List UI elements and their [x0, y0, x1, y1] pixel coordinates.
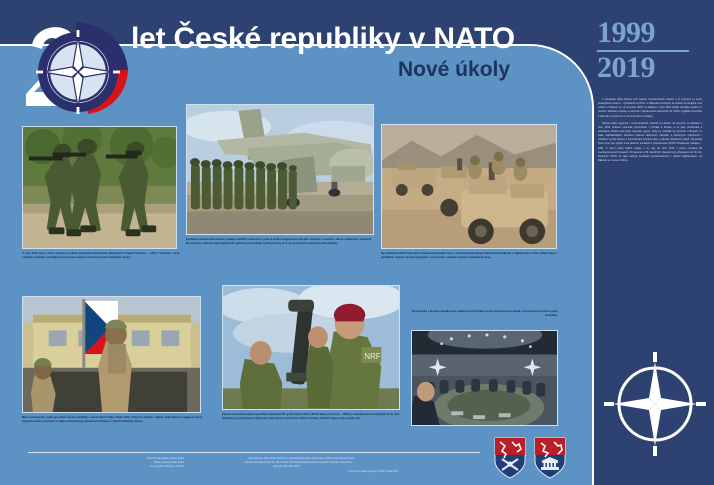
photo-transport-aircraft: [186, 104, 374, 235]
footer-divider: [28, 452, 480, 453]
crest-military-history-institute: [494, 437, 526, 479]
photo-soldiers-training: [22, 126, 177, 249]
page-title: let České republiky v NATO: [131, 22, 515, 56]
caption-nato-council: Na summitu v Bruselu zasedla jsme zaměře…: [411, 310, 558, 318]
nato-20-anniversary-logo: [18, 16, 138, 118]
footer-crests: [494, 437, 566, 479]
photo-mortar-crew: NRF: [222, 285, 400, 410]
anniversary-years: 1999 2019: [597, 18, 697, 84]
photo-desert-convoy: [381, 124, 557, 249]
year-from: 1999: [597, 18, 697, 49]
right-text-column: V současné době Aliance čelí zvýšení mez…: [598, 98, 702, 166]
caption-mortar-crew: Úkolem mechanizovaných speciálních jedno…: [222, 413, 400, 421]
footer-line: Výtvarná autorů a fotoarchiv Vojenský Ús…: [300, 461, 420, 465]
right-text-paragraph-1: V současné době Aliance čelí zvýšení mez…: [598, 98, 702, 119]
caption-desert-convoy: Na summitech NATO byla také schválena po…: [381, 252, 557, 260]
footer-copyright: © 20 výročí České republiky v NATO Praha…: [348, 470, 488, 474]
caption-soldier-czech-flag: Mimo mezinárodní vojáci při cvičení Česk…: [22, 416, 202, 424]
footer-column-4: © 20 výročí České republiky v NATO Praha…: [348, 470, 488, 474]
right-text-paragraph-2: Šéfové států reagovali v mezinárodních v…: [598, 122, 702, 163]
footer-line: Vojenský Ústav 160 NATO: [200, 465, 300, 469]
page-subtitle: Nové úkoly: [398, 58, 510, 82]
photo-soldier-czech-flag: [22, 296, 201, 413]
footer-column-3: Odpovědní zpracovatel: Jindří Novák Voje…: [300, 457, 420, 465]
year-to: 2019: [597, 53, 697, 84]
svg-text:NRF: NRF: [364, 352, 380, 361]
caption-soldiers-training: V roce 2017 byla v rámci iniciativ posíl…: [22, 252, 180, 260]
footer-line: ve vojenském kontextu v Bruselu: [96, 465, 184, 469]
footer-column-1: Univerzitě vojenského výzkum Praha Praha…: [96, 457, 184, 469]
photo-nato-council: [411, 330, 558, 426]
poster-canvas: let České republiky v NATO Nové úkoly 19…: [0, 0, 714, 485]
footer-column-2: Vydal Vojenský ústav Praha 2019 ČR ve sp…: [200, 457, 300, 469]
caption-transport-aircraft: Současné mezinárodní situace vyžaduje od…: [186, 238, 372, 246]
nato-compass-star-icon: [604, 348, 706, 460]
crest-ministry-of-defence: [534, 437, 566, 479]
